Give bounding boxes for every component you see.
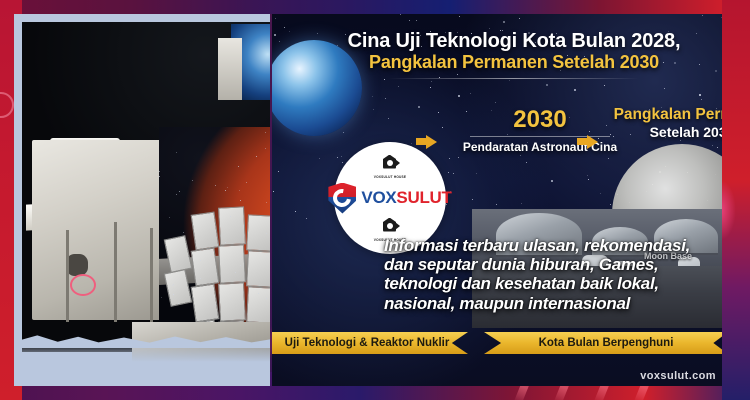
camera-icon-shape bbox=[395, 222, 400, 230]
solar-panel-cell bbox=[246, 250, 270, 287]
milestone-right-line-1: Pangkalan Permanen bbox=[602, 106, 722, 124]
star bbox=[520, 155, 521, 156]
star bbox=[551, 180, 553, 182]
star bbox=[343, 132, 344, 133]
headline-line-1: Cina Uji Teknologi Kota Bulan 2028, bbox=[320, 30, 708, 52]
solar-panel-cell bbox=[246, 286, 270, 323]
solar-panel-cell bbox=[218, 206, 246, 245]
lens-icon-shape bbox=[387, 160, 393, 166]
headline-line-2: Pangkalan Permanen Setelah 2030 bbox=[320, 52, 708, 72]
star bbox=[459, 16, 460, 17]
star bbox=[240, 200, 241, 201]
star bbox=[265, 148, 266, 149]
annotation-circle bbox=[70, 274, 96, 296]
headline-block: Cina Uji Teknologi Kota Bulan 2028, Pang… bbox=[320, 30, 708, 79]
star bbox=[209, 214, 210, 215]
solar-panel-cell bbox=[218, 244, 246, 283]
star bbox=[715, 70, 717, 72]
star bbox=[227, 187, 228, 188]
star bbox=[161, 297, 162, 298]
star bbox=[179, 191, 180, 192]
solar-panel-cell bbox=[191, 212, 220, 251]
star bbox=[225, 190, 226, 191]
star bbox=[176, 194, 177, 195]
mars-inset-image bbox=[159, 127, 270, 342]
left-video-panel[interactable] bbox=[14, 14, 270, 386]
headline-divider bbox=[389, 78, 639, 79]
milestone-right-line-2: Setelah 2030 bbox=[602, 124, 722, 140]
site-watermark: voxsulut.com bbox=[640, 370, 716, 382]
star bbox=[215, 185, 216, 186]
decorative-circle bbox=[0, 92, 14, 118]
star bbox=[256, 156, 257, 157]
star bbox=[192, 180, 193, 181]
article-thumbnail-panel[interactable]: Cina Uji Teknologi Kota Bulan 2028, Pang… bbox=[272, 14, 722, 386]
star bbox=[278, 171, 279, 172]
brand-wordmark: VOXSULUT bbox=[361, 188, 451, 208]
station-panel-right bbox=[218, 38, 242, 100]
brand-sulut: SULUT bbox=[396, 188, 451, 207]
milestone-right: Pangkalan Permanen Setelah 2030 bbox=[602, 106, 722, 140]
lens-icon-shape bbox=[387, 223, 393, 229]
panel-bottom-fade bbox=[22, 342, 270, 386]
solar-panel-cell bbox=[191, 248, 220, 287]
ribbon-row: Uji Teknologi & Reaktor Nuklir Kota Bula… bbox=[272, 332, 722, 356]
solar-panel-cell bbox=[191, 284, 220, 323]
station-seam bbox=[150, 228, 153, 322]
star bbox=[373, 109, 374, 110]
arrow-right-icon bbox=[587, 135, 598, 149]
star bbox=[169, 217, 170, 218]
star bbox=[265, 132, 266, 133]
overlay-description-text: Informasi terbaru ulasan, rekomendasi, d… bbox=[384, 236, 720, 313]
star bbox=[337, 157, 338, 158]
star bbox=[317, 33, 318, 34]
star bbox=[159, 176, 160, 177]
brand-vox: VOX bbox=[361, 188, 396, 207]
left-panel-inner bbox=[22, 22, 270, 386]
solar-panel-cell bbox=[218, 282, 246, 321]
star bbox=[178, 303, 179, 304]
star bbox=[183, 232, 184, 233]
arrow-right-tail bbox=[577, 138, 587, 145]
shield-logo-icon bbox=[328, 183, 356, 214]
star bbox=[246, 182, 247, 183]
star bbox=[176, 152, 177, 153]
ribbon-left: Uji Teknologi & Reaktor Nuklir bbox=[272, 332, 468, 354]
camera-icon-shape bbox=[395, 159, 400, 167]
house-camera-icon bbox=[380, 218, 400, 234]
station-seam bbox=[66, 230, 69, 322]
station-port bbox=[66, 254, 88, 276]
mini-logo-top-label: VOXSULUT HOUSE bbox=[374, 175, 406, 179]
star bbox=[238, 166, 239, 167]
star bbox=[266, 202, 267, 203]
screenshot-root: Cina Uji Teknologi Kota Bulan 2028, Pang… bbox=[0, 0, 750, 400]
star bbox=[458, 157, 459, 158]
station-seam bbox=[114, 222, 117, 322]
star bbox=[159, 171, 160, 172]
ribbon-right: Kota Bulan Berpenghuni bbox=[484, 332, 722, 354]
house-camera-icon bbox=[380, 155, 400, 171]
star bbox=[239, 190, 240, 191]
arrow-left-tail bbox=[416, 138, 426, 145]
star bbox=[400, 14, 401, 15]
star bbox=[600, 193, 601, 194]
arrow-left-icon bbox=[426, 135, 437, 149]
brand-lockup: VOXSULUT bbox=[328, 183, 451, 214]
star bbox=[230, 299, 231, 300]
star bbox=[448, 172, 449, 173]
milestone-label: Pendaratan Astronaut Cina bbox=[440, 140, 640, 154]
top-gradient-band bbox=[0, 0, 750, 14]
